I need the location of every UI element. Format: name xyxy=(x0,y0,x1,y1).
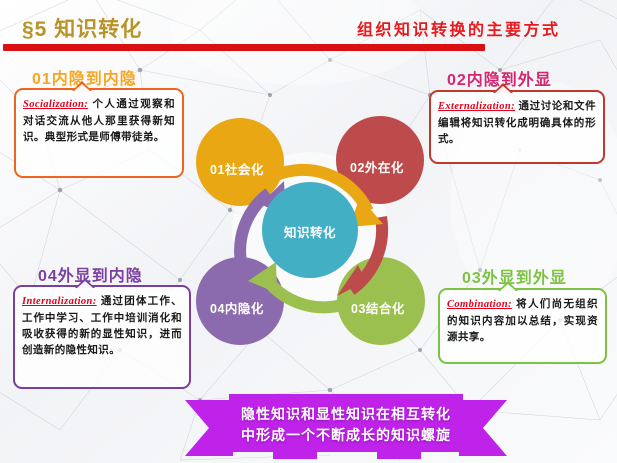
bubble-tail-inner-icon xyxy=(500,284,516,291)
header-subtitle: 组织知识转换的主要方式 xyxy=(357,16,561,40)
callout-externalization: Externalization: 通过讨论和文件编辑将知识转化成明确具体的形式。 xyxy=(429,90,605,164)
callout-body-04: Internalization: 通过团体工作、工作中学习、工作中培训消化和吸收… xyxy=(22,293,182,358)
seci-cycle-diagram: 01社会化 02外在化 03结合化 04内隐化 知识转化 xyxy=(185,105,435,355)
center-label-knowledge-conversion: 知识转化 xyxy=(185,222,435,241)
ribbon-notch-left xyxy=(273,452,317,459)
title-rule-divider xyxy=(3,44,485,51)
callout-internalization: Internalization: 通过团体工作、工作中学习、工作中培训消化和吸收… xyxy=(13,285,191,389)
bubble-tail-inner-icon xyxy=(77,281,93,288)
callout-keyword-01: Socialization: xyxy=(23,99,88,110)
ribbon-line-1: 隐性知识和显性知识在相互转化 xyxy=(185,404,507,425)
callout-keyword-02: Externalization: xyxy=(438,101,515,112)
bubble-tail-inner-icon xyxy=(74,84,90,91)
callout-body-02: Externalization: 通过讨论和文件编辑将知识转化成明确具体的形式。 xyxy=(438,98,596,147)
callout-body-03: Combination: 将人们尚无组织的知识内容加以总结，实现资源共享。 xyxy=(447,296,598,345)
callout-socialization: Socialization: 个人通过观察和对话交流从他人那里获得新知识。典型形… xyxy=(14,88,184,178)
slide-canvas: §5 知识转化 组织知识转换的主要方式 01内隐到内隐 02内隐到外显 03外显… xyxy=(0,0,617,463)
node-label-externalization: 02外在化 xyxy=(185,157,435,176)
bubble-tail-inner-icon xyxy=(495,86,511,93)
callout-combination: Combination: 将人们尚无组织的知识内容加以总结，实现资源共享。 xyxy=(438,288,607,364)
ribbon-line-2: 中形成一个不断成长的知识螺旋 xyxy=(185,425,507,446)
callout-keyword-04: Internalization: xyxy=(22,296,97,307)
ribbon-notch-right xyxy=(377,452,421,459)
callout-body-01: Socialization: 个人通过观察和对话交流从他人那里获得新知识。典型形… xyxy=(23,96,175,145)
callout-keyword-03: Combination: xyxy=(447,299,512,310)
page-title: §5 知识转化 xyxy=(22,13,142,43)
ribbon-text: 隐性知识和显性知识在相互转化 中形成一个不断成长的知识螺旋 xyxy=(185,404,507,446)
summary-ribbon-banner: 隐性知识和显性知识在相互转化 中形成一个不断成长的知识螺旋 xyxy=(185,394,507,462)
node-label-internalization: 04内隐化 xyxy=(185,298,435,317)
